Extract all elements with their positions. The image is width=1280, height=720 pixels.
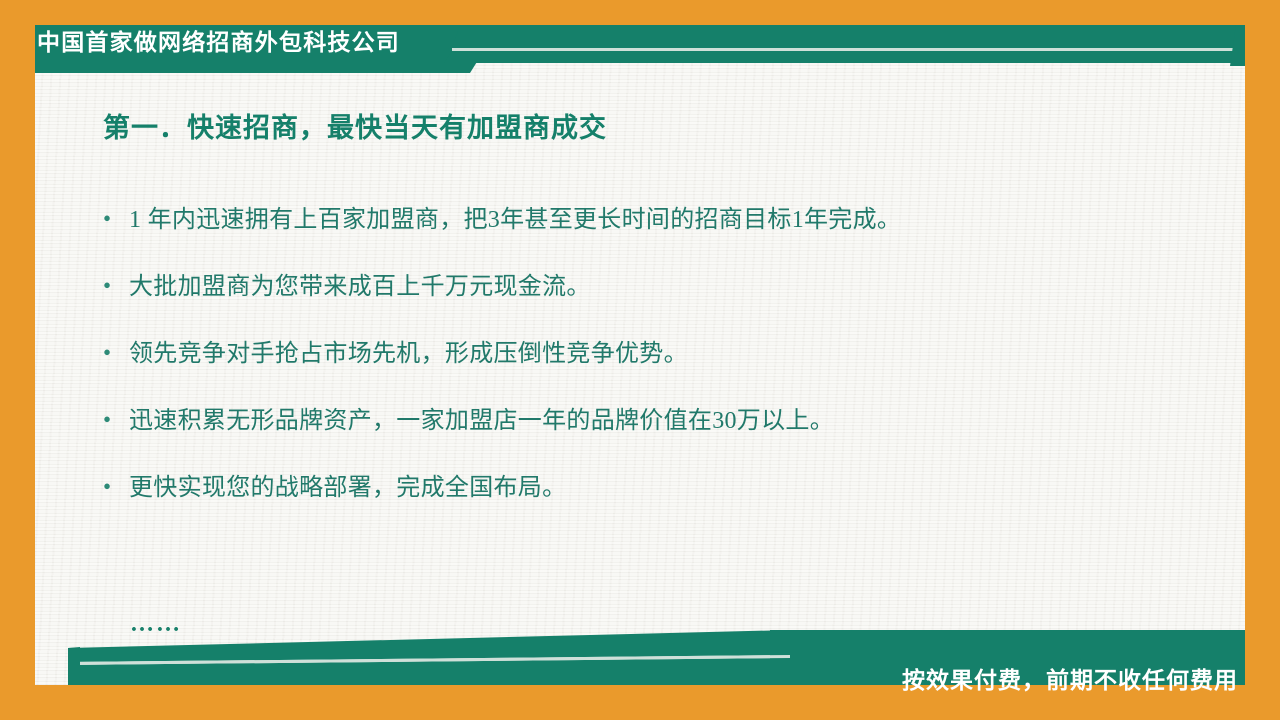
list-item: • 更快实现您的战略部署，完成全国布局。: [103, 473, 1193, 503]
page-title: 第一．快速招商，最快当天有加盟商成交: [103, 112, 607, 144]
slide: 中国首家做网络招商外包科技公司 第一．快速招商，最快当天有加盟商成交 • 1 年…: [0, 0, 1280, 720]
list-item-label: 更快实现您的战略部署，完成全国布局。: [129, 473, 1193, 503]
bullet-dot-icon: •: [103, 205, 129, 234]
list-item-label: 1 年内迅速拥有上百家加盟商，把3年甚至更长时间的招商目标1年完成。: [129, 205, 1193, 235]
bullet-dot-icon: •: [103, 473, 129, 502]
list-item-label: 迅速积累无形品牌资产，一家加盟店一年的品牌价值在30万以上。: [129, 406, 1193, 436]
bullet-dot-icon: •: [103, 272, 129, 301]
ellipsis-text: ……: [130, 612, 182, 636]
bullet-dot-icon: •: [103, 339, 129, 368]
list-item: • 1 年内迅速拥有上百家加盟商，把3年甚至更长时间的招商目标1年完成。: [103, 205, 1193, 235]
bullet-dot-icon: •: [103, 406, 129, 435]
list-item: • 迅速积累无形品牌资产，一家加盟店一年的品牌价值在30万以上。: [103, 406, 1193, 436]
list-item-label: 领先竞争对手抢占市场先机，形成压倒性竞争优势。: [129, 339, 1193, 369]
list-item-label: 大批加盟商为您带来成百上千万元现金流。: [129, 272, 1193, 302]
list-item: • 领先竞争对手抢占市场先机，形成压倒性竞争优势。: [103, 339, 1193, 369]
bullet-list: • 1 年内迅速拥有上百家加盟商，把3年甚至更长时间的招商目标1年完成。 • 大…: [103, 205, 1193, 540]
list-item: • 大批加盟商为您带来成百上千万元现金流。: [103, 272, 1193, 302]
